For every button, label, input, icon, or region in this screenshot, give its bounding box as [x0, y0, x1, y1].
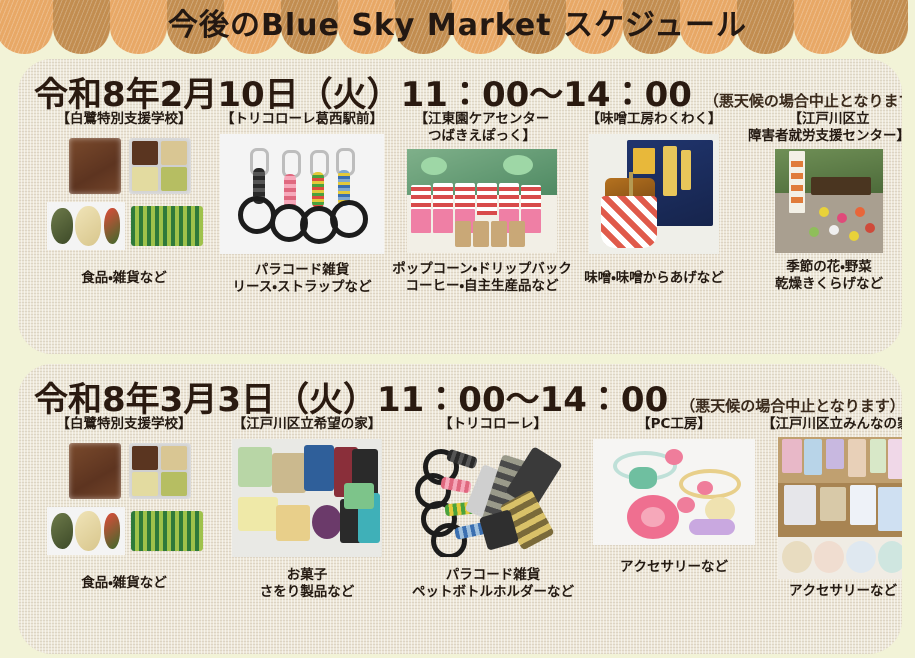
session-date-text: 令和8年2月10日（火）11：00〜14：00 — [34, 67, 692, 116]
shop-column-shirasagi-mar: 【白鷺特別支援学校】 食品・雑貨など — [34, 416, 214, 592]
shop-name-line2: つばきえぽっく】 — [388, 128, 576, 145]
shop-caption: 食品・雑貨など — [34, 575, 214, 593]
session-date-text: 令和8年3月3日（火）11：00〜14：00 — [34, 372, 668, 421]
shop-name: 【江戸川区立みんなの家】 — [758, 416, 902, 433]
session-panel-february: 令和8年2月10日（火）11：00〜14：00 （悪天候の場合中止となります） … — [18, 59, 902, 354]
shop-caption: アクセサリーなど — [584, 559, 764, 577]
shop-name: 【江戸川区立希望の家】 — [214, 416, 400, 433]
shop-name-line1: 【江戸川区立 — [734, 111, 902, 128]
flowers-plants-photo — [775, 149, 883, 253]
shop-name: 【味噌工房わくわく】 — [574, 111, 734, 128]
shop-caption-line1: 季節の花・野菜 — [734, 259, 902, 277]
shop-caption-line2: リース・ストラップなど — [216, 279, 388, 297]
shop-name: 【白鷺特別支援学校】 — [34, 111, 214, 128]
session-panel-march: 令和8年3月3日（火）11：00〜14：00 （悪天候の場合中止となります） 【… — [18, 364, 902, 654]
session-weather-note: （悪天候の場合中止となります） — [704, 90, 902, 111]
shop-name: 【白鷺特別支援学校】 — [34, 416, 214, 433]
shop-name-line2: 障害者就労支援センター】 — [734, 128, 902, 145]
shop-caption: 食品・雑貨など — [34, 270, 214, 288]
shop-caption-line2: さをり製品など — [214, 584, 400, 602]
page-title: 今後のBlue Sky Market スケジュール — [0, 0, 915, 52]
paracord-bottle-holder-photo — [413, 439, 573, 557]
session-weather-note: （悪天候の場合中止となります） — [680, 395, 902, 416]
shop-caption-line1: パラコード雑貨 — [400, 567, 586, 585]
shop-caption-line2: ペットボトルホルダーなど — [400, 584, 586, 602]
food-and-goods-photo — [39, 134, 209, 254]
food-and-goods-photo — [39, 439, 209, 559]
shop-column-kibou-no-ie-mar: 【江戸川区立希望の家】 お菓子 さをり製品など — [214, 416, 400, 602]
shop-caption-line1: お菓子 — [214, 567, 400, 585]
shop-column-tricolore-mar: 【トリコローレ】 パラコード雑貨 ペットボトルホルダーなど — [400, 416, 586, 602]
shop-caption-line2: 乾燥きくらげなど — [734, 276, 902, 294]
accessories-photo — [593, 439, 755, 545]
miso-box-photo — [589, 134, 719, 254]
shop-caption-line2: コーヒー・自主生産品など — [388, 278, 576, 296]
top-banner: 今後のBlue Sky Market スケジュール — [0, 0, 915, 57]
popcorn-booth-photo — [407, 149, 557, 253]
shop-caption-line1: ポップコーン・ドリップバック — [388, 261, 576, 279]
paracord-keychains-photo — [220, 134, 384, 254]
shop-columns-march: 【白鷺特別支援学校】 食品・雑貨など 【江戸川区立希望 — [18, 416, 902, 650]
shop-name-line1: 【江東園ケアセンター — [388, 111, 576, 128]
shop-name: 【PC工房】 — [584, 416, 764, 433]
shop-caption-line1: パラコード雑貨 — [216, 262, 388, 280]
minna-no-ie-accessories-photo — [778, 437, 902, 579]
shop-column-tricolore-kasai-feb: 【トリコローレ葛西駅前】 パラコード雑貨 リース・ストラップなど — [216, 111, 388, 297]
shop-name: 【トリコローレ葛西駅前】 — [216, 111, 388, 128]
sweets-and-saori-photo — [232, 439, 382, 557]
shop-column-shirasagi-feb: 【白鷺特別支援学校】 食品・雑貨など — [34, 111, 214, 287]
shop-column-minna-no-ie-mar: 【江戸川区立みんなの家】 アクセサリーなど — [758, 416, 902, 600]
session-date-header-march: 令和8年3月3日（火）11：00〜14：00 （悪天候の場合中止となります） — [34, 372, 892, 421]
shop-name: 【トリコローレ】 — [400, 416, 586, 433]
shop-caption: 味噌・味噌からあげなど — [574, 270, 734, 288]
shop-column-pc-koubou-mar: 【PC工房】 アクセサリーなど — [584, 416, 764, 576]
shop-caption: アクセサリーなど — [758, 583, 902, 601]
shop-columns-february: 【白鷺特別支援学校】 食品・雑貨など 【トリコローレ葛 — [18, 111, 902, 350]
shop-column-miso-feb: 【味噌工房わくわく】 味噌・味噌からあげなど — [574, 111, 734, 287]
shop-column-shuro-support-feb: 【江戸川区立 障害者就労支援センター】 季節の花・野菜 乾燥きくらげなど — [734, 111, 902, 294]
session-date-header-february: 令和8年2月10日（火）11：00〜14：00 （悪天候の場合中止となります） — [34, 67, 892, 116]
shop-column-kotoen-feb: 【江東園ケアセンター つばきえぽっく】 — [388, 111, 576, 296]
